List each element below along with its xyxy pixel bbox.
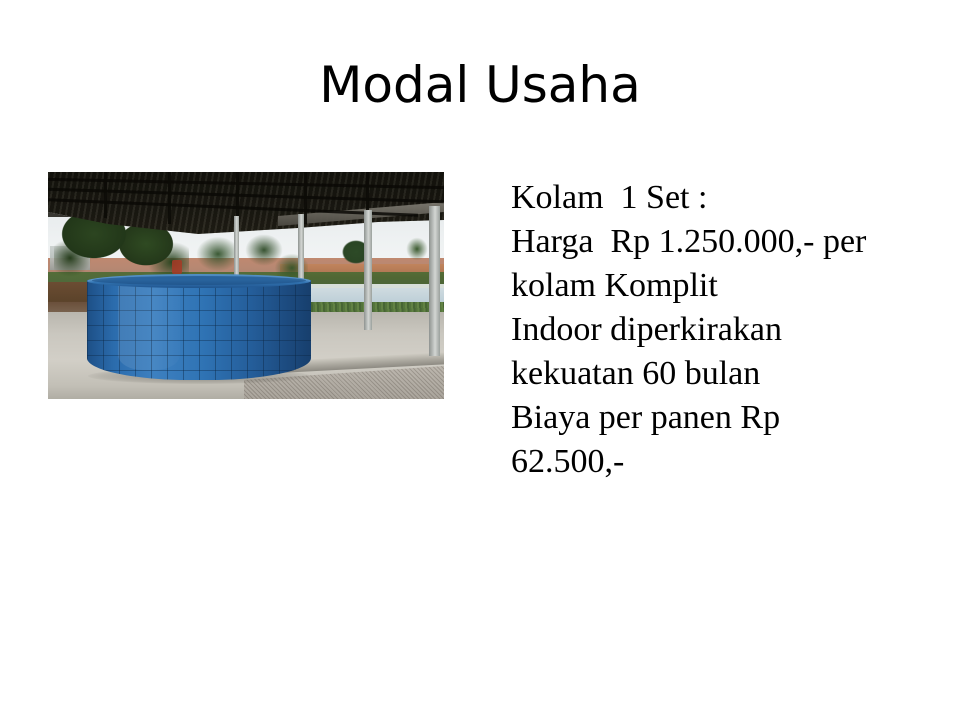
red-object <box>172 260 182 274</box>
roof-truss-2 <box>168 172 171 224</box>
body-line: kekuatan 60 bulan <box>511 352 931 396</box>
body-line: kolam Komplit <box>511 264 931 308</box>
slide-canvas: Modal Usaha <box>0 0 960 720</box>
body-line: Harga Rp 1.250.000,- per <box>511 220 931 264</box>
body-line: Biaya per panen Rp <box>511 396 931 440</box>
photo-scene <box>48 172 444 399</box>
body-line: 62.500,- <box>511 440 931 484</box>
pond-rim-inner <box>92 276 306 285</box>
roof-truss-1 <box>104 172 107 218</box>
column-4 <box>429 206 440 356</box>
body-line: Kolam 1 Set : <box>511 176 931 220</box>
body-text-block: Kolam 1 Set : Harga Rp 1.250.000,- per k… <box>511 176 931 484</box>
body-line: Indoor diperkirakan <box>511 308 931 352</box>
pond-photo <box>48 172 444 399</box>
roof-truss-4 <box>304 172 307 224</box>
column-3 <box>364 210 372 330</box>
pond-highlight <box>118 284 180 370</box>
page-title: Modal Usaha <box>0 56 960 114</box>
